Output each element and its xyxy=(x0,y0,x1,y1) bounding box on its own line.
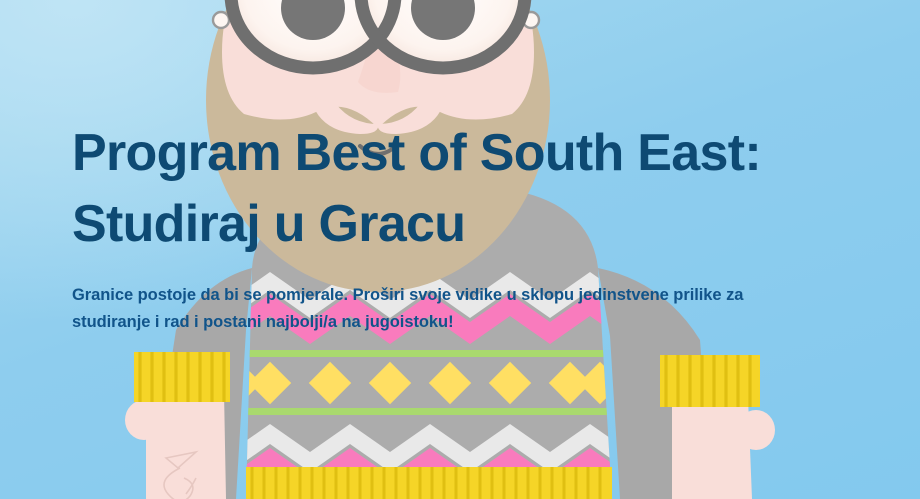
lens-rim-left xyxy=(231,0,395,68)
right-thumb xyxy=(737,410,775,450)
diamond-band xyxy=(219,362,621,404)
eye-left-white xyxy=(231,0,395,68)
iris-right xyxy=(411,0,475,40)
glasses-hinge-right xyxy=(523,12,539,28)
face xyxy=(222,0,534,128)
hero-copy: Program Best of South East: Studiraj u G… xyxy=(72,118,888,336)
left-thumb xyxy=(125,400,163,440)
right-cuff xyxy=(660,355,760,407)
page-title: Program Best of South East: Studiraj u G… xyxy=(72,118,888,260)
stripe-green-upper xyxy=(230,350,640,357)
lens-rim-right xyxy=(361,0,525,68)
iris-left xyxy=(281,0,345,40)
left-arm-hand xyxy=(125,392,226,499)
glasses-hinge-left xyxy=(213,12,229,28)
sweater-hem xyxy=(246,467,612,499)
right-arm-hand xyxy=(672,398,775,499)
stripe-green-lower xyxy=(230,408,640,415)
eye-right-white xyxy=(361,0,525,68)
left-cuff xyxy=(134,352,230,402)
hero-banner: Program Best of South East: Studiraj u G… xyxy=(0,0,920,499)
chevron-band-bottom xyxy=(230,424,630,497)
tattoo-linework xyxy=(164,452,196,499)
hero-subtitle: Granice postoje da bi se pomjerale. Proš… xyxy=(72,282,884,336)
glasses xyxy=(228,0,528,68)
nose xyxy=(358,14,400,93)
